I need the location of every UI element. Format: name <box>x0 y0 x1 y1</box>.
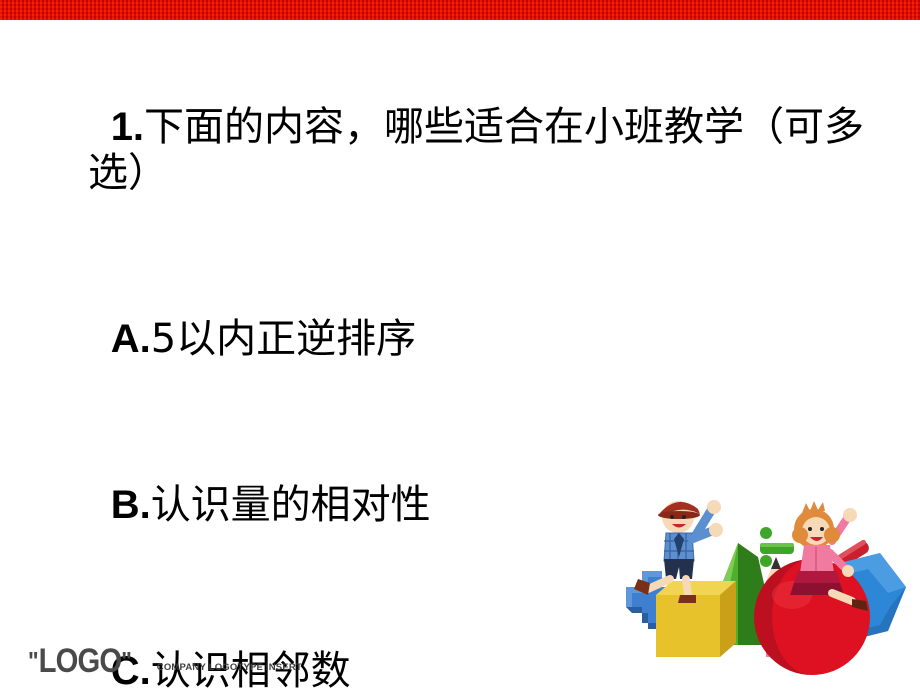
kids-math-shapes-illustration <box>600 495 920 690</box>
logo-text: LOGO <box>39 642 122 680</box>
slide-canvas: 1.下面的内容，哪些适合在小班教学（可多选） A.5以内正逆排序 B.认识量的相… <box>0 0 920 690</box>
top-red-band <box>0 0 920 20</box>
logo-quote-right: " <box>121 646 132 676</box>
question-number: 1. <box>111 105 144 149</box>
question-text: 下面的内容，哪些适合在小班教学 <box>144 104 744 150</box>
option-a-label: 5以内正逆排序 <box>151 316 416 362</box>
logo-quote-left: " <box>28 646 39 676</box>
logo-footer: "LOGO" COMPANY LOGOTYPE INSERT <box>28 646 302 676</box>
yellow-cube-icon <box>656 581 736 657</box>
question-line: 1.下面的内容，哪些适合在小班教学（可多选） <box>44 58 884 242</box>
option-a-letter: A. <box>111 317 151 361</box>
option-b-letter: B. <box>111 483 151 527</box>
logo-subtitle: COMPANY LOGOTYPE INSERT <box>157 662 302 676</box>
option-b-label: 认识量的相对性 <box>151 482 431 528</box>
option-a[interactable]: A.5以内正逆排序 <box>44 270 884 408</box>
logo-mark: "LOGO" <box>28 646 132 676</box>
